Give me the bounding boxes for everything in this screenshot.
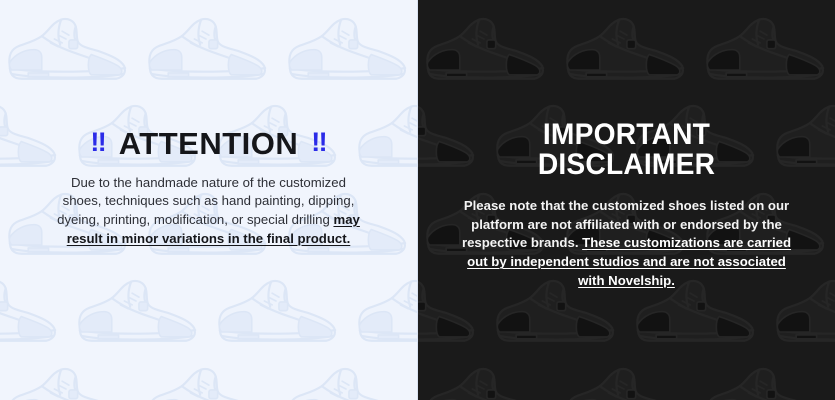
disclaimer-content: IMPORTANT DISCLAIMER Please note that th… [418,120,835,291]
attention-content: ‼ ATTENTION ‼ Due to the handmade nature… [0,128,417,249]
disclaimer-body: Please note that the customized shoes li… [440,197,813,291]
disclaimer-heading: IMPORTANT DISCLAIMER [451,120,802,180]
disclaimer-heading-line2: DISCLAIMER [538,148,715,181]
disclaimer-heading-line1: IMPORTANT [543,118,710,151]
disclaimer-panel: IMPORTANT DISCLAIMER Please note that th… [417,0,835,400]
attention-body-plain: Due to the handmade nature of the custom… [57,175,354,227]
double-exclamation-left-icon: ‼ [90,129,105,156]
attention-heading-text: ATTENTION [119,128,299,160]
attention-body: Due to the handmade nature of the custom… [28,174,389,249]
disclaimer-banner: ‼ ATTENTION ‼ Due to the handmade nature… [0,0,835,400]
attention-panel: ‼ ATTENTION ‼ Due to the handmade nature… [0,0,417,400]
double-exclamation-right-icon: ‼ [311,129,326,156]
attention-heading: ‼ ATTENTION ‼ [28,128,389,160]
